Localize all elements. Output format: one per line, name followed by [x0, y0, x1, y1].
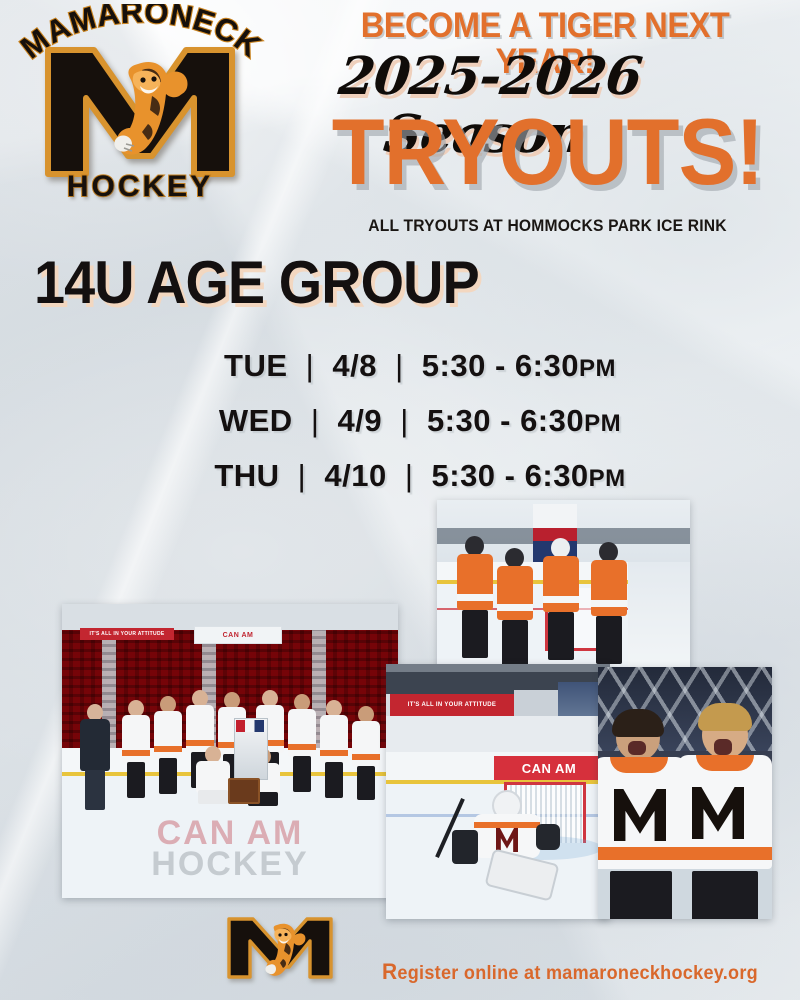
goalie-photo-scene: IT'S ALL IN YOUR ATTITUDE CAN AM [386, 664, 610, 919]
player-figure [598, 715, 690, 919]
schedule-start: 5:30 [432, 458, 496, 493]
canam-rink-banner: CAN AM [194, 626, 282, 644]
footer-tiger-m-logo [225, 915, 335, 981]
schedule-end: 6:30 [520, 403, 584, 438]
canam-boards-sign: CAN AM [494, 756, 604, 780]
goalie-figure [452, 790, 562, 894]
register-text: egister online at mamaroneckhockey.org [397, 963, 758, 984]
player-figure [320, 700, 348, 792]
schedule-dash: - [500, 403, 511, 438]
venue-line: ALL TRYOUTS AT HOMMOCKS PARK ICE RINK [320, 216, 775, 236]
register-prefix: R [382, 959, 397, 984]
age-group-heading: 14U AGE GROUP [34, 252, 479, 314]
hair [612, 709, 664, 737]
team-championship-photo: CAN AM IT'S ALL IN YOUR ATTITUDE [62, 604, 398, 898]
schedule-ampm: PM [584, 410, 621, 437]
player-figure [495, 548, 535, 668]
schedule-separator: | [386, 348, 413, 383]
attitude-banner: IT'S ALL IN YOUR ATTITUDE [390, 694, 514, 716]
player-figure [288, 694, 316, 788]
celebration-photo [598, 667, 772, 919]
schedule-date: 4/9 [338, 403, 383, 438]
schedule-row: THU | 4/10 | 5:30 - 6:30PM [160, 450, 680, 505]
hair [698, 703, 752, 731]
schedule-list: TUE | 4/8 | 5:30 - 6:30PM WED | 4/9 | 5:… [160, 340, 680, 505]
schedule-row: WED | 4/9 | 5:30 - 6:30PM [160, 395, 680, 450]
page-title: TRYOUTS! [320, 104, 775, 200]
schedule-row: TUE | 4/8 | 5:30 - 6:30PM [160, 340, 680, 395]
schedule-date: 4/10 [324, 458, 386, 493]
mamaroneck-hockey-logo: MAMARONECK HOCKEY [6, 4, 274, 216]
schedule-separator: | [297, 348, 324, 383]
schedule-day: TUE [224, 348, 288, 383]
poster-canvas: MAMARONECK HOCKEY [0, 0, 800, 1000]
open-mouth [628, 741, 646, 755]
schedule-day: THU [214, 458, 279, 493]
open-mouth [714, 739, 732, 755]
player-figure [154, 696, 182, 790]
player-figure [352, 706, 380, 794]
schedule-ampm: PM [579, 355, 616, 382]
logo-letter-m [42, 44, 238, 179]
schedule-dash: - [505, 458, 516, 493]
schedule-start: 5:30 [427, 403, 491, 438]
celebration-photo-scene [598, 667, 772, 919]
goalie-pad [484, 848, 559, 901]
schedule-day: WED [219, 403, 293, 438]
player-figure [455, 536, 495, 664]
goalie-kneeling-figure [196, 746, 230, 802]
schedule-separator: | [391, 403, 418, 438]
four-players-photo [437, 500, 690, 670]
register-line[interactable]: Register online at mamaroneckhockey.org [371, 959, 770, 985]
schedule-end: 6:30 [515, 348, 579, 383]
goalie-photo: IT'S ALL IN YOUR ATTITUDE CAN AM [386, 664, 610, 919]
logo-hockey-label: HOCKEY [6, 170, 274, 204]
player-figure [589, 542, 629, 668]
four-players-scene [437, 500, 690, 670]
schedule-separator: | [302, 403, 329, 438]
player-figure [122, 700, 150, 792]
goalie-glove [536, 824, 560, 850]
schedule-start: 5:30 [422, 348, 486, 383]
schedule-separator: | [289, 458, 316, 493]
schedule-ampm: PM [589, 465, 626, 492]
player-figure [541, 538, 581, 666]
schedule-dash: - [495, 348, 506, 383]
coach-figure [80, 704, 110, 800]
attitude-banner: IT'S ALL IN YOUR ATTITUDE [80, 628, 174, 640]
schedule-end: 6:30 [525, 458, 589, 493]
goalie-blocker [452, 830, 478, 864]
schedule-date: 4/8 [332, 348, 377, 383]
ice-logo: CAN AM HOCKEY [96, 818, 364, 881]
player-figure [678, 705, 772, 919]
schedule-separator: | [396, 458, 423, 493]
ice-logo-line2: HOCKEY [96, 849, 364, 880]
team-photo-scene: CAN AM IT'S ALL IN YOUR ATTITUDE [62, 604, 398, 898]
